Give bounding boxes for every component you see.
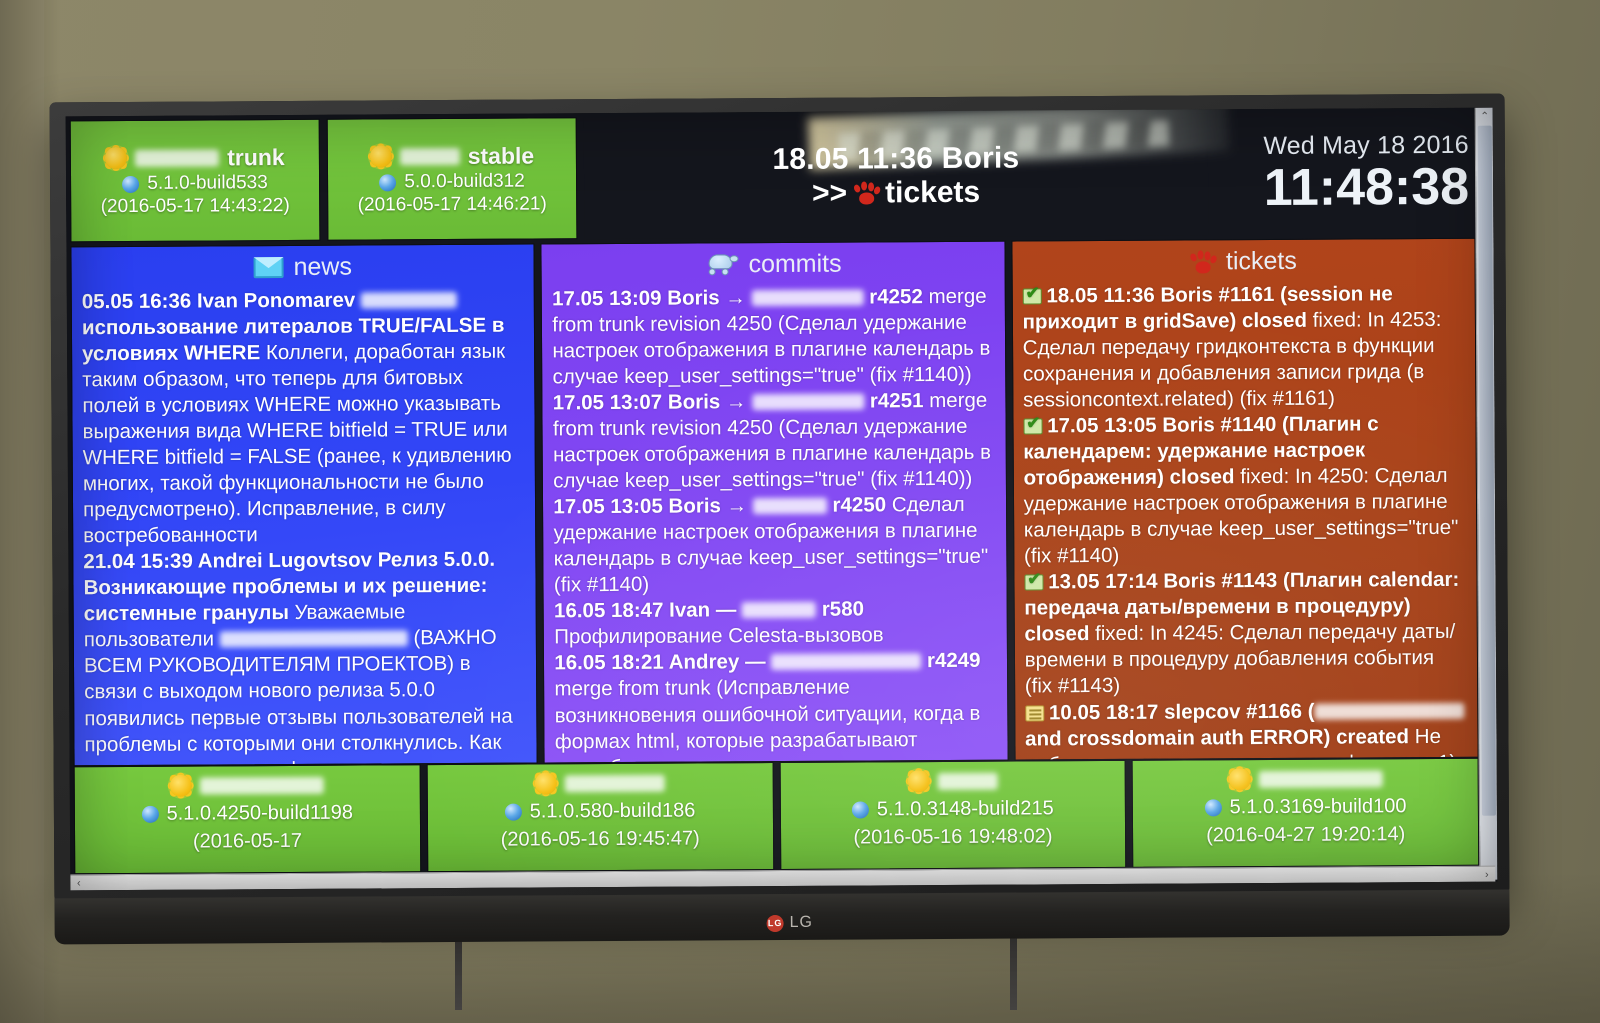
commit-entry[interactable]: 17.05 13:05 Boris → r4250 Сделал удержан… [553, 492, 996, 599]
commit-arrow: → [725, 286, 746, 309]
news-entry[interactable]: 05.05 16:36 Ivan Ponomarev использование… [82, 287, 526, 550]
build-card-title [1228, 767, 1382, 790]
panel-commits[interactable]: commits 17.05 13:09 Boris → r4252 merge … [541, 241, 1008, 764]
commit-meta: 16.05 18:21 Andrey [554, 651, 739, 675]
build-card-title [170, 774, 324, 797]
bottom-build-row: 5.1.0.4250-build1198 (2016-05-17 5.1.0.5… [70, 758, 1498, 875]
ticket-closed-icon [1024, 575, 1043, 591]
commit-revision: r4249 [927, 649, 981, 672]
commit-revision: r580 [822, 598, 864, 621]
header-clock: 11:48:38 [1264, 160, 1470, 215]
paw-icon [1190, 250, 1216, 274]
build-date-label: (2016-05-16 19:48:02) [853, 825, 1052, 848]
redacted-text [1314, 702, 1464, 719]
redacted-project-name [400, 148, 460, 165]
commit-entry[interactable]: 16.05 18:47 Ivan — r580 Профилирование C… [554, 596, 997, 651]
sun-icon [170, 775, 192, 797]
lg-brand-logo: LG LG [767, 914, 813, 932]
commit-revision: r4250 [832, 494, 886, 517]
build-card-title [535, 772, 665, 795]
redacted-author [742, 602, 816, 618]
ticket-state: created [1336, 725, 1409, 748]
build-card-bottom-3[interactable]: 5.1.0.3148-build215 (2016-05-16 19:48:02… [779, 760, 1126, 870]
panel-news[interactable]: news 05.05 16:36 Ivan Ponomarev использо… [70, 243, 537, 766]
ticket-state: closed [1242, 309, 1307, 332]
build-version-row: 5.1.0.4250-build1198 [141, 802, 353, 825]
commit-arrow: → [727, 494, 748, 517]
blue-ball-icon [852, 801, 869, 818]
build-version-row: 5.1.0.3169-build100 [1205, 795, 1407, 818]
redacted-project-name [1258, 770, 1382, 788]
ticket-head: 10.05 18:17 slepcov #1166 ( [1049, 699, 1315, 724]
news-entry-body: Коллеги, доработан язык таким образом, ч… [82, 340, 511, 548]
header-date: Wed May 18 2016 [1263, 131, 1469, 161]
vertical-scrollbar[interactable]: ⌃ [1475, 108, 1498, 880]
blue-ball-icon [1205, 799, 1222, 816]
sun-icon [908, 770, 930, 792]
commit-meta: 17.05 13:07 Boris [553, 390, 721, 414]
commit-entry[interactable]: 17.05 13:09 Boris → r4252 merge from tru… [552, 284, 995, 391]
panel-news-title: news [293, 253, 352, 282]
ticket-entry[interactable]: 10.05 18:17 slepcov #1166 ( and crossdom… [1025, 697, 1469, 760]
redacted-text [220, 631, 408, 648]
ticket-created-icon [1025, 705, 1044, 721]
mail-icon [253, 257, 283, 278]
build-date-label: (2016-05-17 14:43:22) [101, 195, 290, 217]
ticket-closed-icon [1022, 288, 1041, 304]
blue-ball-icon [142, 805, 159, 822]
ticket-head-cont: and crossdomain auth ERROR) [1025, 725, 1330, 750]
commit-arrow: → [726, 390, 747, 413]
build-version-label: 5.1.0.3148-build215 [877, 797, 1054, 820]
scroll-right-arrow-icon[interactable]: › [1478, 866, 1495, 882]
redacted-author [753, 498, 827, 514]
ticket-entry[interactable]: 13.05 17:14 Boris #1143 (Плагин calendar… [1024, 567, 1467, 700]
panel-commits-header: commits [552, 246, 995, 287]
panel-commits-title: commits [748, 250, 841, 280]
redacted-author [771, 654, 921, 671]
build-date-label: (2016-04-27 19:20:14) [1206, 823, 1405, 846]
television: trunk 5.1.0-build533 (2016-05-17 14:43:2… [50, 94, 1510, 903]
commit-revision: r4252 [869, 285, 923, 308]
redacted-text [361, 292, 457, 309]
build-version-row: 5.1.0.580-build186 [505, 800, 696, 823]
panel-tickets[interactable]: tickets 18.05 11:36 Boris #1161 (session… [1011, 238, 1479, 761]
redacted-project-name [200, 776, 324, 794]
paw-icon [853, 181, 879, 205]
ticker-target-label: tickets [885, 176, 980, 211]
build-card-bottom-2[interactable]: 5.1.0.580-build186 (2016-05-16 19:45:47) [426, 762, 773, 872]
blue-ball-icon [379, 174, 396, 191]
build-card-title: stable [370, 142, 535, 170]
redacted-project-name [938, 772, 998, 789]
build-version-label: 5.1.0-build533 [147, 173, 268, 195]
build-card-bottom-4[interactable]: 5.1.0.3169-build100 (2016-04-27 19:20:14… [1132, 758, 1479, 868]
build-date-label: (2016-05-17 [193, 830, 302, 853]
panel-news-header: news [81, 249, 524, 290]
panel-news-body: 05.05 16:36 Ivan Ponomarev использование… [82, 287, 527, 767]
commit-entry[interactable]: 17.05 13:07 Boris → r4251 merge from tru… [553, 388, 996, 495]
dashboard-header: trunk 5.1.0-build533 (2016-05-17 14:43:2… [66, 108, 1494, 247]
turtle-icon [704, 253, 738, 277]
build-version-row: 5.1.0-build533 [122, 173, 268, 195]
scroll-left-arrow-icon[interactable]: ‹ [70, 875, 87, 891]
vertical-scrollbar-thumb[interactable] [1478, 126, 1496, 816]
redacted-author [751, 289, 863, 306]
sun-icon [1228, 768, 1250, 790]
header-ticker: 18.05 11:36 Boris >> tickets [584, 113, 1209, 239]
news-entry-meta: 21.04 15:39 Andrei Lugovtsov [83, 549, 372, 574]
commit-message: merge from trunk (Исправление возникнове… [554, 676, 980, 763]
commit-entry[interactable]: 16.05 18:21 Andrey — r4249 merge from tr… [554, 648, 997, 763]
redacted-project-name [565, 774, 665, 792]
commit-meta: 17.05 13:09 Boris [552, 286, 720, 310]
build-version-row: 5.1.0.3148-build215 [852, 797, 1054, 820]
commit-arrow: — [745, 651, 766, 674]
commit-arrow: — [716, 599, 737, 622]
ticket-body: fixed: In 4245: Сделал передачу даты/вре… [1025, 620, 1456, 698]
build-card-title: trunk [105, 144, 285, 172]
sun-icon [370, 145, 392, 167]
build-version-label: 5.0.0-build312 [404, 171, 525, 193]
tv-bezel: trunk 5.1.0-build533 (2016-05-17 14:43:2… [50, 94, 1510, 903]
ticket-head: 13.05 17:14 Boris #1143 (Плагин calendar… [1024, 568, 1459, 620]
ticket-state: closed [1024, 623, 1089, 646]
panel-tickets-body: 18.05 11:36 Boris #1161 (session не прих… [1022, 281, 1468, 761]
panel-tickets-title: tickets [1226, 247, 1297, 276]
ticker-event-line: 18.05 11:36 Boris [772, 142, 1019, 178]
sun-icon [535, 772, 557, 794]
build-card-stable[interactable]: stable 5.0.0-build312 (2016-05-17 14:46:… [327, 117, 578, 241]
redacted-project-name [135, 149, 219, 167]
build-date-label: (2016-05-16 19:45:47) [501, 827, 700, 850]
redacted-author [752, 394, 864, 411]
panel-tickets-header: tickets [1022, 243, 1465, 284]
blue-ball-icon [122, 175, 139, 192]
tv-screen: trunk 5.1.0-build533 (2016-05-17 14:43:2… [66, 108, 1498, 891]
commit-message: Профилирование Celesta-вызовов [554, 624, 884, 649]
build-date-label: (2016-05-17 14:46:21) [358, 194, 547, 216]
blue-ball-icon [505, 803, 522, 820]
news-entry[interactable]: 21.04 15:39 Andrei Lugovtsov Релиз 5.0.0… [83, 547, 527, 766]
build-branch-label: stable [468, 142, 535, 169]
sun-icon [105, 147, 127, 169]
panel-commits-body: 17.05 13:09 Boris → r4252 merge from tru… [552, 284, 997, 764]
commit-meta: 16.05 18:47 Ivan [554, 599, 710, 623]
ticket-entry[interactable]: 17.05 13:05 Boris #1140 (Плагин с календ… [1023, 411, 1466, 570]
ticket-entry[interactable]: 18.05 11:36 Boris #1161 (session не прих… [1022, 281, 1465, 414]
news-entry-meta: 05.05 16:36 Ivan Ponomarev [82, 289, 356, 314]
build-version-label: 5.1.0.580-build186 [530, 800, 696, 823]
build-card-title [908, 770, 998, 793]
dashboard-panels: news 05.05 16:36 Ivan Ponomarev использо… [66, 238, 1496, 767]
commit-meta: 17.05 13:05 Boris [553, 495, 721, 519]
ticker-target-line: >> tickets [812, 176, 980, 211]
lg-logo-mark: LG [767, 914, 784, 931]
ticket-state: closed [1169, 465, 1234, 488]
ticker-arrow-prefix: >> [812, 177, 847, 211]
build-dashboard: trunk 5.1.0-build533 (2016-05-17 14:43:2… [66, 108, 1498, 891]
build-version-label: 5.1.0.3169-build100 [1230, 795, 1407, 818]
build-version-row: 5.0.0-build312 [379, 171, 525, 193]
header-clock-block: Wed May 18 2016 11:48:38 [1215, 112, 1476, 236]
wall-seam [0, 0, 44, 1023]
build-card-trunk[interactable]: trunk 5.1.0-build533 (2016-05-17 14:43:2… [70, 119, 321, 243]
ticket-closed-icon [1023, 419, 1042, 435]
scroll-up-arrow-icon[interactable]: ⌃ [1476, 108, 1494, 125]
build-version-label: 5.1.0.4250-build1198 [166, 802, 353, 825]
build-branch-label: trunk [227, 144, 285, 171]
lg-logo-text: LG [790, 914, 813, 932]
commit-revision: r4251 [870, 389, 924, 412]
build-card-bottom-1[interactable]: 5.1.0.4250-build1198 (2016-05-17 [74, 764, 421, 874]
